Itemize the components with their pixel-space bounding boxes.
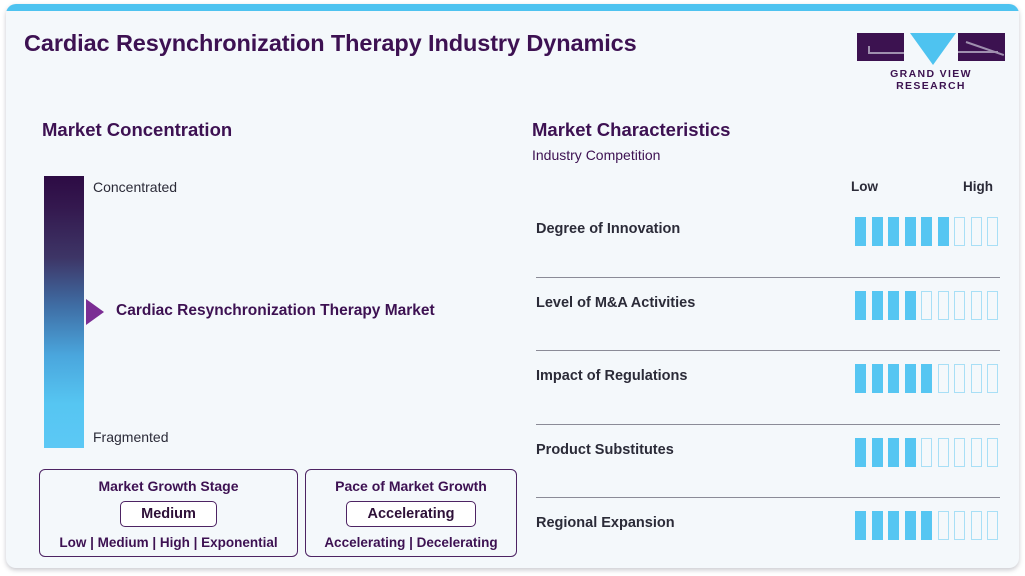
- characteristic-row: Level of M&A Activities: [536, 278, 1000, 352]
- logo-left-rect-icon: [857, 33, 904, 61]
- characteristic-row: Regional Expansion: [536, 498, 1000, 568]
- market-characteristics-heading: Market Characteristics: [532, 119, 730, 141]
- characteristic-label: Impact of Regulations: [536, 368, 687, 384]
- rating-pip-empty: [938, 291, 949, 320]
- pace-of-market-growth-box: Pace of Market Growth Accelerating Accel…: [305, 469, 517, 557]
- rating-pip-filled: [921, 511, 932, 540]
- characteristic-rating-pips: [855, 364, 998, 393]
- logo-wordmark: GRAND VIEW RESEARCH: [857, 68, 1005, 92]
- rating-pip-empty: [938, 364, 949, 393]
- rating-pip-empty: [938, 511, 949, 540]
- characteristics-list: Degree of InnovationLevel of M&A Activit…: [536, 204, 1000, 568]
- market-position-arrow-icon: [86, 299, 104, 325]
- rating-pip-filled: [888, 438, 899, 467]
- rating-pip-filled: [921, 217, 932, 246]
- characteristic-rating-pips: [855, 291, 998, 320]
- infographic-card: Cardiac Resynchronization Therapy Indust…: [6, 4, 1019, 568]
- rating-pip-filled: [938, 217, 949, 246]
- rating-pip-empty: [921, 438, 932, 467]
- rating-pip-filled: [872, 217, 883, 246]
- rating-pip-empty: [971, 291, 982, 320]
- page-title: Cardiac Resynchronization Therapy Indust…: [24, 30, 637, 57]
- rating-pip-filled: [905, 364, 916, 393]
- rating-pip-empty: [921, 291, 932, 320]
- characteristic-row: Impact of Regulations: [536, 351, 1000, 425]
- characteristic-label: Degree of Innovation: [536, 221, 680, 237]
- rating-pip-empty: [954, 291, 965, 320]
- characteristic-rating-pips: [855, 217, 998, 246]
- rating-pip-filled: [905, 291, 916, 320]
- rating-pip-empty: [954, 217, 965, 246]
- market-position-label: Cardiac Resynchronization Therapy Market: [116, 302, 435, 320]
- market-growth-stage-box: Market Growth Stage Medium Low | Medium …: [39, 469, 298, 557]
- axis-label-high: High: [963, 179, 993, 194]
- rating-pip-empty: [987, 217, 998, 246]
- rating-pip-empty: [954, 438, 965, 467]
- logo-right-rect-icon: [958, 33, 1005, 61]
- logo-triangle-icon: [910, 33, 956, 65]
- rating-pip-empty: [987, 511, 998, 540]
- pace-title: Pace of Market Growth: [306, 478, 516, 494]
- pace-value: Accelerating: [346, 501, 475, 527]
- characteristic-label: Regional Expansion: [536, 515, 675, 531]
- rating-pip-filled: [855, 438, 866, 467]
- rating-pip-filled: [905, 217, 916, 246]
- characteristic-rating-pips: [855, 438, 998, 467]
- rating-pip-filled: [855, 217, 866, 246]
- characteristic-row: Degree of Innovation: [536, 204, 1000, 278]
- brand-logo: GRAND VIEW RESEARCH: [857, 33, 1005, 92]
- rating-pip-filled: [921, 364, 932, 393]
- concentration-top-label: Concentrated: [93, 179, 177, 195]
- growth-stage-value: Medium: [120, 501, 217, 527]
- rating-pip-empty: [987, 291, 998, 320]
- rating-pip-empty: [971, 217, 982, 246]
- characteristic-label: Level of M&A Activities: [536, 295, 695, 311]
- rating-pip-empty: [971, 511, 982, 540]
- rating-pip-filled: [888, 291, 899, 320]
- rating-pip-filled: [872, 511, 883, 540]
- rating-pip-filled: [905, 438, 916, 467]
- axis-label-low: Low: [851, 179, 878, 194]
- characteristic-row: Product Substitutes: [536, 425, 1000, 499]
- rating-pip-filled: [872, 291, 883, 320]
- rating-pip-filled: [888, 217, 899, 246]
- rating-pip-filled: [888, 511, 899, 540]
- rating-pip-empty: [954, 511, 965, 540]
- rating-pip-filled: [855, 364, 866, 393]
- rating-pip-filled: [905, 511, 916, 540]
- pace-scale: Accelerating | Decelerating: [306, 535, 516, 550]
- rating-pip-filled: [855, 291, 866, 320]
- rating-pip-empty: [954, 364, 965, 393]
- concentration-bottom-label: Fragmented: [93, 429, 168, 445]
- rating-pip-empty: [971, 438, 982, 467]
- rating-pip-empty: [987, 438, 998, 467]
- rating-pip-empty: [938, 438, 949, 467]
- rating-pip-empty: [971, 364, 982, 393]
- market-characteristics-subheading: Industry Competition: [532, 147, 660, 163]
- concentration-gradient-bar: [44, 176, 84, 448]
- rating-pip-filled: [888, 364, 899, 393]
- characteristic-rating-pips: [855, 511, 998, 540]
- growth-stage-title: Market Growth Stage: [40, 478, 297, 494]
- market-concentration-heading: Market Concentration: [42, 119, 232, 141]
- rating-pip-filled: [855, 511, 866, 540]
- rating-pip-filled: [872, 364, 883, 393]
- logo-marks: [857, 33, 1005, 63]
- growth-stage-scale: Low | Medium | High | Exponential: [40, 535, 297, 550]
- rating-pip-filled: [872, 438, 883, 467]
- top-accent-bar: [6, 4, 1019, 11]
- characteristic-label: Product Substitutes: [536, 442, 674, 458]
- rating-pip-empty: [987, 364, 998, 393]
